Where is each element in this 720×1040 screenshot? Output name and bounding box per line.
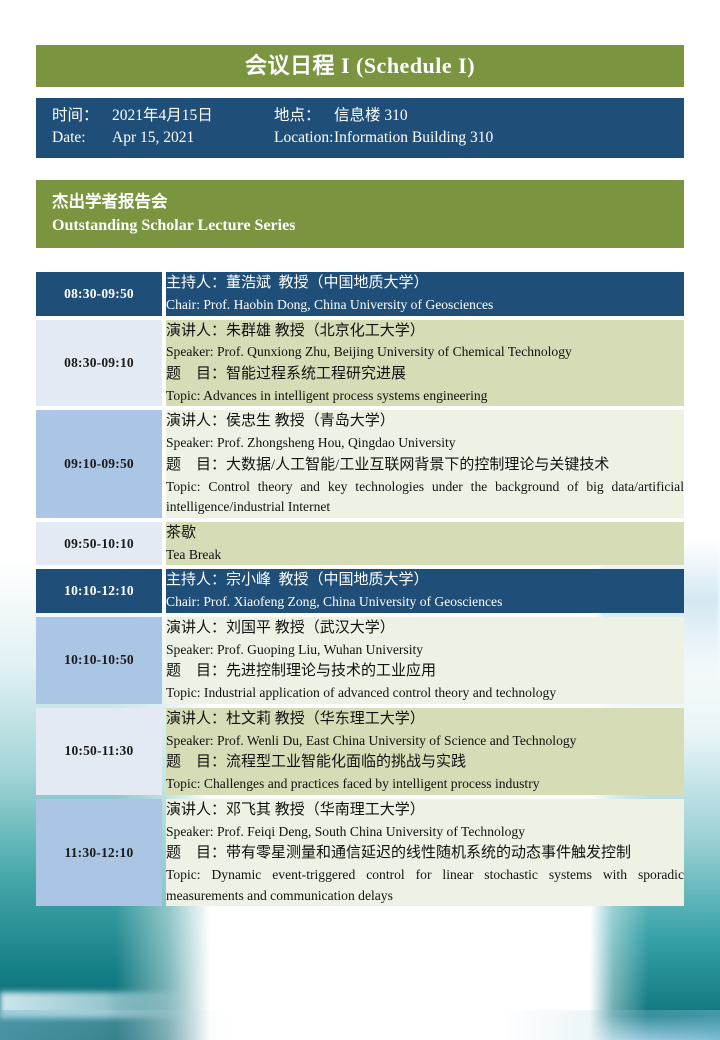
location-chinese: 地点： 信息楼 310 xyxy=(274,105,408,127)
schedule-time-cell: 09:10-09:50 xyxy=(36,410,162,518)
table-row[interactable]: 10:10-10:50演讲人：刘国平 教授（武汉大学）Speaker: Prof… xyxy=(36,617,684,704)
date-label-en: Date: xyxy=(52,127,112,149)
schedule-detail-cell: 演讲人：刘国平 教授（武汉大学）Speaker: Prof. Guoping L… xyxy=(166,617,684,704)
schedule-detail-line-cn: 题 目：大数据/人工智能/工业互联网背景下的控制理论与关键技术 xyxy=(166,454,684,477)
schedule-time-cell: 08:30-09:50 xyxy=(36,272,162,315)
location-value-en: Information Building 310 xyxy=(334,127,493,149)
schedule-detail-line-cn: 题 目：先进控制理论与技术的工业应用 xyxy=(166,660,684,683)
table-row[interactable]: 10:10-12:10主持人：宗小峰 教授（中国地质大学）Chair: Prof… xyxy=(36,569,684,612)
date-label-cn: 时间： xyxy=(52,105,112,127)
schedule-detail-cell: 演讲人：杜文莉 教授（华东理工大学）Speaker: Prof. Wenli D… xyxy=(166,708,684,795)
schedule-detail-line-cn: 题 目：流程型工业智能化面临的挑战与实践 xyxy=(166,751,684,774)
location-value-cn: 信息楼 310 xyxy=(334,105,408,127)
info-row-chinese: 时间： 2021年4月15日 地点： 信息楼 310 xyxy=(52,105,668,127)
session-banner: 杰出学者报告会 Outstanding Scholar Lecture Seri… xyxy=(36,180,684,248)
schedule-time-cell: 10:10-10:50 xyxy=(36,617,162,704)
schedule-detail-line-cn: 主持人：董浩斌 教授（中国地质大学） xyxy=(166,272,684,295)
schedule-time-cell: 09:50-10:10 xyxy=(36,522,162,565)
table-row[interactable]: 11:30-12:10演讲人：邓飞其 教授（华南理工大学）Speaker: Pr… xyxy=(36,799,684,907)
schedule-detail-cell: 演讲人：邓飞其 教授（华南理工大学）Speaker: Prof. Feiqi D… xyxy=(166,799,684,907)
schedule-detail-line-en: Speaker: Prof. Wenli Du, East China Univ… xyxy=(166,731,684,752)
schedule-detail-line-en: Speaker: Prof. Guoping Liu, Wuhan Univer… xyxy=(166,640,684,661)
table-row[interactable]: 08:30-09:50主持人：董浩斌 教授（中国地质大学）Chair: Prof… xyxy=(36,272,684,315)
schedule-detail-cell: 茶歇Tea Break xyxy=(166,522,684,565)
schedule-detail-cell: 主持人：董浩斌 教授（中国地质大学）Chair: Prof. Haobin Do… xyxy=(166,272,684,315)
schedule-page: 会议日程 I (Schedule I) 时间： 2021年4月15日 地点： 信… xyxy=(0,0,720,1040)
date-value-en: Apr 15, 2021 xyxy=(112,127,194,149)
schedule-detail-line-en: Speaker: Prof. Zhongsheng Hou, Qingdao U… xyxy=(166,433,684,454)
schedule-time-cell: 10:50-11:30 xyxy=(36,708,162,795)
schedule-detail-line-en: Topic: Dynamic event-triggered control f… xyxy=(166,865,684,906)
event-info-bar: 时间： 2021年4月15日 地点： 信息楼 310 Date: Apr 15,… xyxy=(36,98,684,158)
schedule-detail-line-en: Topic: Control theory and key technologi… xyxy=(166,477,684,518)
schedule-detail-cell: 演讲人：朱群雄 教授（北京化工大学）Speaker: Prof. Qunxion… xyxy=(166,320,684,407)
schedule-detail-line-en: Speaker: Prof. Qunxiong Zhu, Beijing Uni… xyxy=(166,342,684,363)
schedule-detail-line-en: Chair: Prof. Xiaofeng Zong, China Univer… xyxy=(166,592,684,613)
table-row[interactable]: 09:50-10:10茶歇Tea Break xyxy=(36,522,684,565)
session-name-en: Outstanding Scholar Lecture Series xyxy=(52,214,668,237)
schedule-detail-line-en: Topic: Advances in intelligent process s… xyxy=(166,386,684,407)
schedule-detail-line-cn: 茶歇 xyxy=(166,522,684,545)
location-label-cn: 地点： xyxy=(274,105,334,127)
table-row[interactable]: 09:10-09:50演讲人：侯忠生 教授（青岛大学）Speaker: Prof… xyxy=(36,410,684,518)
schedule-detail-line-en: Tea Break xyxy=(166,545,684,566)
table-row[interactable]: 10:50-11:30演讲人：杜文莉 教授（华东理工大学）Speaker: Pr… xyxy=(36,708,684,795)
schedule-detail-line-cn: 演讲人：刘国平 教授（武汉大学） xyxy=(166,617,684,640)
location-english: Location: Information Building 310 xyxy=(274,127,493,149)
schedule-detail-cell: 主持人：宗小峰 教授（中国地质大学）Chair: Prof. Xiaofeng … xyxy=(166,569,684,612)
schedule-table: 08:30-09:50主持人：董浩斌 教授（中国地质大学）Chair: Prof… xyxy=(36,272,684,906)
date-english: Date: Apr 15, 2021 xyxy=(52,127,274,149)
schedule-detail-line-en: Topic: Industrial application of advance… xyxy=(166,683,684,704)
schedule-time-cell: 10:10-12:10 xyxy=(36,569,162,612)
date-value-cn: 2021年4月15日 xyxy=(112,105,213,127)
info-row-english: Date: Apr 15, 2021 Location: Information… xyxy=(52,127,668,149)
session-name-cn: 杰出学者报告会 xyxy=(52,190,668,214)
schedule-detail-line-cn: 主持人：宗小峰 教授（中国地质大学） xyxy=(166,569,684,592)
schedule-time-cell: 11:30-12:10 xyxy=(36,799,162,907)
schedule-detail-line-cn: 演讲人：朱群雄 教授（北京化工大学） xyxy=(166,320,684,343)
location-label-en: Location: xyxy=(274,127,334,149)
schedule-detail-line-cn: 题 目：智能过程系统工程研究进展 xyxy=(166,363,684,386)
schedule-detail-line-en: Chair: Prof. Haobin Dong, China Universi… xyxy=(166,295,684,316)
schedule-detail-line-cn: 演讲人：杜文莉 教授（华东理工大学） xyxy=(166,708,684,731)
table-row[interactable]: 08:30-09:10演讲人：朱群雄 教授（北京化工大学）Speaker: Pr… xyxy=(36,320,684,407)
schedule-detail-line-cn: 演讲人：侯忠生 教授（青岛大学） xyxy=(166,410,684,433)
schedule-table-body: 08:30-09:50主持人：董浩斌 教授（中国地质大学）Chair: Prof… xyxy=(36,272,684,906)
schedule-detail-line-cn: 题 目：带有零星测量和通信延迟的线性随机系统的动态事件触发控制 xyxy=(166,842,684,865)
date-chinese: 时间： 2021年4月15日 xyxy=(52,105,274,127)
page-title: 会议日程 I (Schedule I) xyxy=(36,45,684,87)
schedule-detail-line-en: Speaker: Prof. Feiqi Deng, South China U… xyxy=(166,822,684,843)
schedule-detail-cell: 演讲人：侯忠生 教授（青岛大学）Speaker: Prof. Zhongshen… xyxy=(166,410,684,518)
schedule-detail-line-cn: 演讲人：邓飞其 教授（华南理工大学） xyxy=(166,799,684,822)
schedule-time-cell: 08:30-09:10 xyxy=(36,320,162,407)
schedule-detail-line-en: Topic: Challenges and practices faced by… xyxy=(166,774,684,795)
